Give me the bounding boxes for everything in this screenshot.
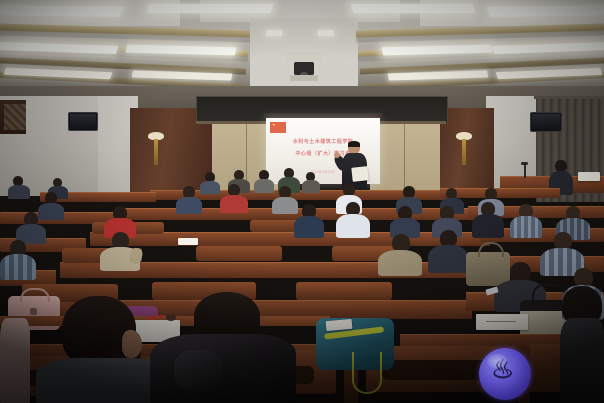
bench-back-row2 xyxy=(296,282,392,300)
bench-back-row3 xyxy=(196,246,282,261)
wall-tv-left xyxy=(68,112,98,131)
audience-member xyxy=(220,184,248,212)
wall-panel-tan xyxy=(370,124,440,190)
bag-olive-handle xyxy=(478,242,504,257)
audience-member xyxy=(16,212,46,242)
paper-on-desk xyxy=(178,238,198,245)
operator-paper xyxy=(578,172,600,181)
audience-member xyxy=(390,206,420,236)
audience-member-left-edge xyxy=(0,318,30,403)
person-body xyxy=(176,197,202,214)
podium-microphone xyxy=(524,164,526,178)
wall-decor-panel xyxy=(4,104,26,130)
watermark-shine xyxy=(487,354,507,368)
person-body xyxy=(560,318,604,403)
audience-member xyxy=(378,234,422,274)
ceiling-lamp xyxy=(486,5,604,17)
lecture-hall-photograph: ★ 水利与土木建筑工程学院 中心组（扩大）学习会 2019年4月23日 xyxy=(0,0,604,403)
flag-star-icon: ★ xyxy=(272,123,276,127)
wall-sconce-right-pole xyxy=(462,139,466,165)
audience-member xyxy=(294,204,324,236)
bench-slot xyxy=(382,360,494,380)
paper-text-line xyxy=(486,321,516,322)
tv-screen xyxy=(70,114,96,129)
person-body xyxy=(150,334,296,403)
person-body xyxy=(0,318,30,403)
curtain-rod xyxy=(534,96,604,99)
person-face xyxy=(122,330,142,358)
audience-member xyxy=(176,186,202,212)
person-body xyxy=(8,185,30,199)
ceiling-lamp xyxy=(147,4,274,13)
ceiling-lamp xyxy=(318,30,334,36)
audience-member xyxy=(336,202,370,236)
audience-member xyxy=(428,230,468,272)
audience-member xyxy=(0,240,36,278)
audience-member-foreground-right xyxy=(560,286,604,403)
ceiling-lamp xyxy=(266,30,282,36)
audience-member xyxy=(302,172,320,192)
logo-watermark: ♨ xyxy=(479,348,531,400)
presenter-hand xyxy=(334,152,340,158)
audience-member xyxy=(510,204,542,236)
ceiling-lamp xyxy=(0,5,124,17)
tv-screen xyxy=(532,114,560,130)
audience-member xyxy=(8,176,30,198)
wall-tv-right xyxy=(530,112,562,132)
person-body xyxy=(428,245,468,273)
person-body xyxy=(472,214,504,238)
ceiling-lamp xyxy=(351,4,476,13)
person-body xyxy=(510,216,542,238)
audience-member xyxy=(200,172,220,192)
audience-member xyxy=(472,202,504,236)
projector-bracket xyxy=(290,75,318,81)
person-body xyxy=(200,181,220,194)
paper-on-desk xyxy=(476,314,528,330)
podium-microphone-head xyxy=(521,162,528,165)
audience-member xyxy=(100,232,140,268)
audience-member xyxy=(254,170,274,192)
bag-teal-handle xyxy=(352,352,382,394)
person-body xyxy=(302,180,320,193)
person-body xyxy=(294,216,324,238)
wall-panel-seam xyxy=(404,124,405,190)
wall-sconce-left-pole xyxy=(154,139,158,165)
audience-member-foreground-center xyxy=(150,292,296,403)
person-body xyxy=(378,250,422,276)
presenter-hair xyxy=(348,141,360,147)
person-body xyxy=(0,254,36,280)
projector-mount xyxy=(286,52,322,62)
person-body xyxy=(336,214,370,238)
person-body xyxy=(254,179,274,193)
person-body xyxy=(220,195,248,213)
presenter-papers xyxy=(351,166,368,182)
jacket-highlight xyxy=(174,350,222,390)
